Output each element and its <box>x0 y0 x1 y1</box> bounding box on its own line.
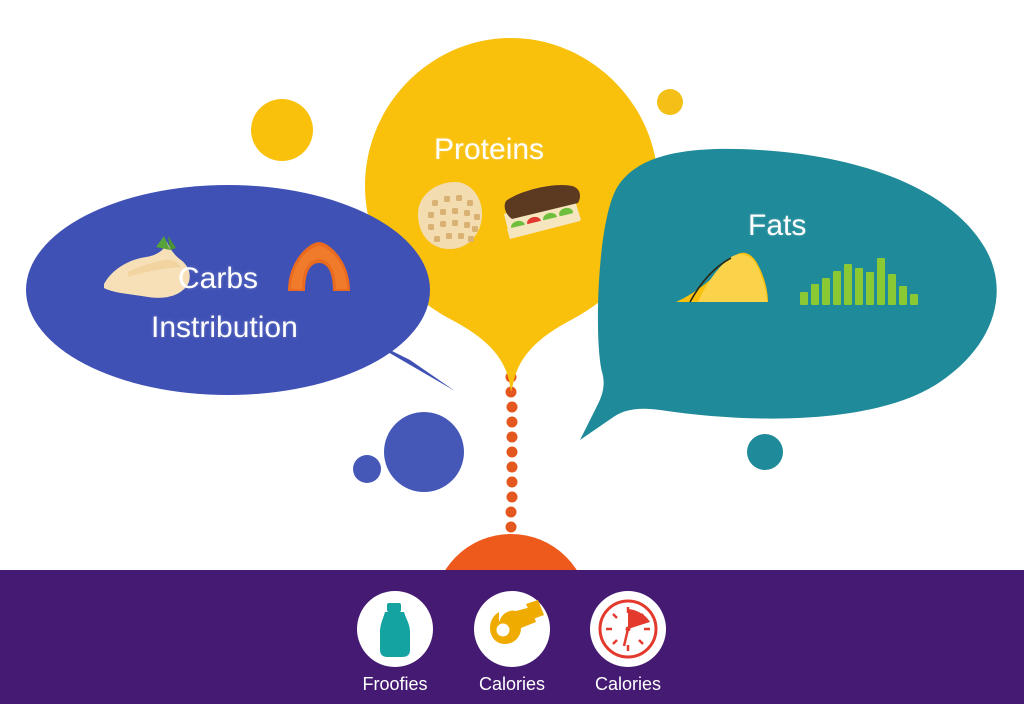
teal-dot <box>747 434 783 470</box>
blue-circle-large <box>384 412 464 492</box>
bubble-carbs-shape <box>26 185 430 395</box>
bubble-fats-shape <box>580 149 997 440</box>
infographic-artwork <box>0 0 1024 704</box>
yellow-circle-large <box>251 99 313 161</box>
footer-item-calories-clock[interactable] <box>590 591 666 667</box>
bubble-fats[interactable] <box>580 149 997 440</box>
orange-dotted-trail <box>506 372 518 533</box>
blue-dot-small <box>353 455 381 483</box>
footer-item-froofies[interactable] <box>357 591 433 667</box>
footer-label-froofies[interactable]: Froofies <box>362 674 427 695</box>
footer-label-calories-clock[interactable]: Calories <box>595 674 661 695</box>
clock-icon <box>600 601 656 657</box>
footer-label-calories-whistle[interactable]: Calories <box>479 674 545 695</box>
infographic-canvas: Carbs Instribution Proteins Fats Froofie… <box>0 0 1024 704</box>
footer-item-calories-whistle[interactable] <box>474 591 550 667</box>
yellow-dot-small <box>657 89 683 115</box>
